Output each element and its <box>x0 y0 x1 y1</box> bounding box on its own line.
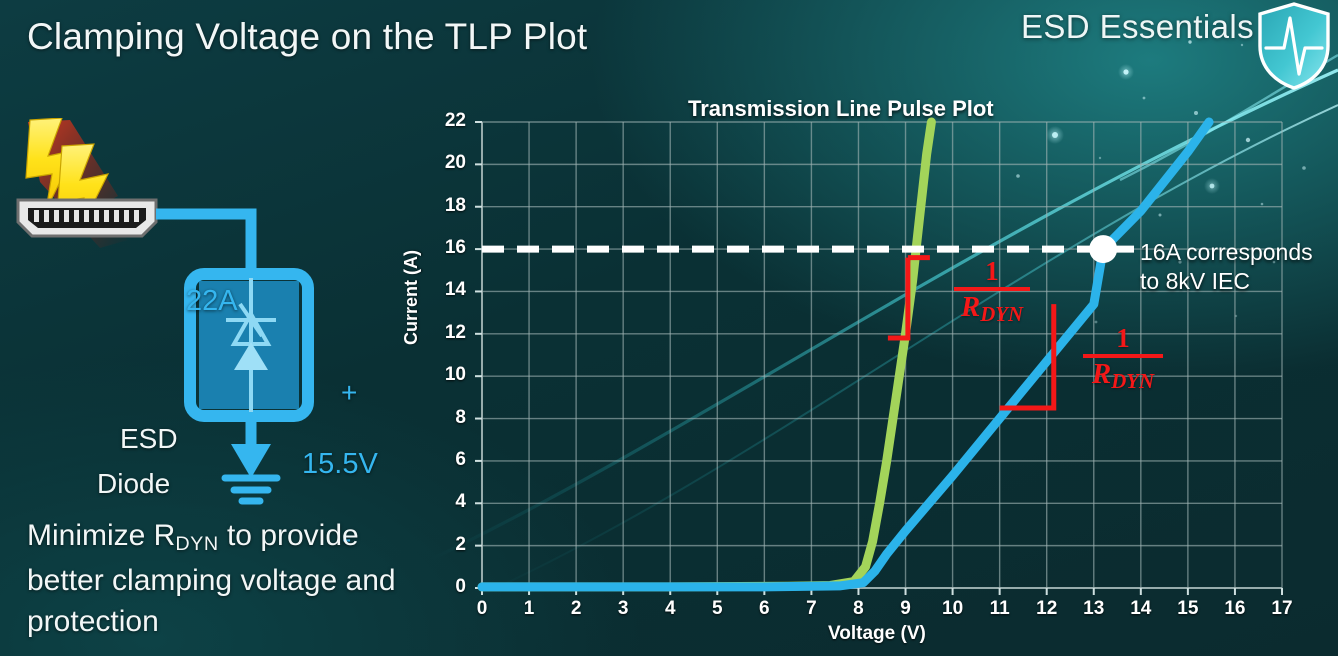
x-tick-label: 6 <box>744 598 784 620</box>
slope2-den-sub: DYN <box>1111 369 1154 393</box>
iec-callout: 16A corresponds to 8kV IEC <box>1140 238 1313 296</box>
x-tick-label: 9 <box>886 598 926 620</box>
y-tick-label: 18 <box>426 195 466 217</box>
x-tick-label: 0 <box>462 598 502 620</box>
x-tick-label: 10 <box>933 598 973 620</box>
slope-annotation-1: 1 RDYN <box>954 258 1030 324</box>
slope1-den-base: R <box>961 291 980 323</box>
slope2-den-base: R <box>1092 358 1111 390</box>
slope2-numerator: 1 <box>1083 325 1163 351</box>
slope-annotation-2: 1 RDYN <box>1083 325 1163 391</box>
y-tick-label: 20 <box>426 152 466 174</box>
y-tick-label: 0 <box>426 576 466 598</box>
x-tick-label: 17 <box>1262 598 1302 620</box>
y-tick-label: 8 <box>426 407 466 429</box>
y-tick-label: 2 <box>426 534 466 556</box>
x-tick-label: 7 <box>791 598 831 620</box>
x-tick-label: 3 <box>603 598 643 620</box>
y-tick-label: 6 <box>426 449 466 471</box>
x-tick-label: 15 <box>1168 598 1208 620</box>
slope1-den-sub: DYN <box>980 302 1023 326</box>
callout-line-2: to 8kV IEC <box>1140 267 1313 296</box>
slide-canvas: Clamping Voltage on the TLP Plot ESD Ess… <box>0 0 1338 656</box>
callout-line-1: 16A corresponds <box>1140 238 1313 267</box>
slope1-numerator: 1 <box>954 258 1030 284</box>
y-tick-label: 22 <box>426 110 466 132</box>
data-point-marker <box>1089 235 1117 263</box>
slope2-denominator: RDYN <box>1083 359 1163 391</box>
x-tick-label: 5 <box>697 598 737 620</box>
y-tick-label: 4 <box>426 491 466 513</box>
y-tick-label: 10 <box>426 364 466 386</box>
x-tick-label: 1 <box>509 598 549 620</box>
y-tick-label: 12 <box>426 322 466 344</box>
y-tick-label: 16 <box>426 237 466 259</box>
x-tick-label: 12 <box>1027 598 1067 620</box>
x-tick-label: 16 <box>1215 598 1255 620</box>
slope1-denominator: RDYN <box>954 292 1030 324</box>
x-tick-label: 14 <box>1121 598 1161 620</box>
x-tick-label: 2 <box>556 598 596 620</box>
y-tick-label: 14 <box>426 279 466 301</box>
tlp-chart: Transmission Line Pulse Plot Current (A)… <box>0 0 1338 656</box>
x-tick-label: 8 <box>838 598 878 620</box>
x-tick-label: 4 <box>650 598 690 620</box>
x-tick-label: 11 <box>980 598 1020 620</box>
x-tick-label: 13 <box>1074 598 1114 620</box>
